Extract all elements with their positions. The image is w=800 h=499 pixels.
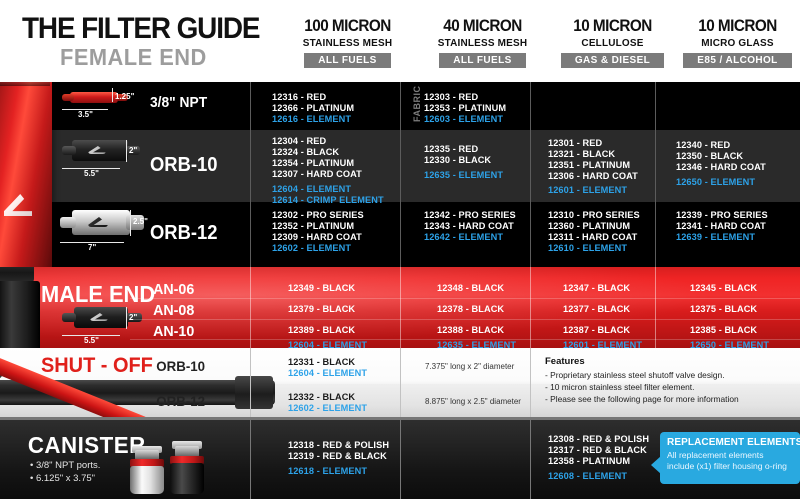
dim-diameter-npt: 1.25" <box>115 92 134 101</box>
size-label-an06: AN-06 <box>153 281 194 298</box>
canister-photo-white <box>130 450 164 494</box>
row-label-orb10: ORB-10 <box>150 154 217 177</box>
callout-title: REPLACEMENT ELEMENTS <box>667 437 793 448</box>
cell-orb12-40micron: 12342 - PRO SERIES 12343 - HARD COAT 126… <box>424 210 516 243</box>
cell-orb10-10micron-cellulose: 12301 - RED 12321 - BLACK 12351 - PLATIN… <box>548 138 638 196</box>
shutoff-orb12-dimensions: 8.875" long x 2.5" diameter <box>425 397 521 406</box>
section-subtitle-female-end: FEMALE END <box>60 44 207 71</box>
cell-orb10-40micron: 12335 - RED 12330 - BLACK 12635 - ELEMEN… <box>424 144 503 181</box>
canister-photo-black <box>170 446 204 494</box>
shutoff-orb12-label: ORB-12 <box>156 393 205 409</box>
replacement-elements-callout: REPLACEMENT ELEMENTS All replacement ele… <box>660 432 800 484</box>
page-title: THE FILTER GUIDE <box>22 12 259 46</box>
canister-photo-red <box>0 82 52 267</box>
shutoff-section: SHUT - OFF ORB-10 ORB-12 12331 - BLACK 1… <box>0 348 800 420</box>
dim-length-an: 5.5" <box>84 336 99 345</box>
cell-orb10-100micron: 12304 - RED 12324 - BLACK 12354 - PLATIN… <box>272 136 384 206</box>
dim-length-orb10: 5.5" <box>84 169 99 178</box>
female-end-table: 3.5" 1.25" 3/8" NPT 5.5" 2" ORB-10 7" 2.… <box>0 82 800 267</box>
fabric-tag: FABRIC <box>412 86 422 123</box>
column-fuel-badge: GAS & DIESEL <box>561 53 664 68</box>
male-end-title: MALE END <box>41 281 155 308</box>
filter-guide-page: THE FILTER GUIDE FEMALE END 100 MICRON S… <box>0 0 800 499</box>
column-header-4: 10 MICRON MICRO GLASS E85 / ALCOHOL <box>655 16 800 68</box>
canister-bullet-2: • 6.125" x 3.75" <box>30 473 95 484</box>
cell-canister-10micron: 12308 - RED & POLISH 12317 - RED & BLACK… <box>548 434 649 482</box>
brand-logo-icon <box>4 194 32 216</box>
features-title: Features <box>545 356 585 367</box>
callout-body: All replacement elements include (x1) fi… <box>667 450 793 472</box>
cell-npt-100micron: 12316 - RED 12366 - PLATINUM 12616 - ELE… <box>272 92 354 125</box>
cell-canister-100micron: 12318 - RED & POLISH 12319 - RED & BLACK… <box>288 440 389 477</box>
page-header: THE FILTER GUIDE FEMALE END 100 MICRON S… <box>0 0 800 82</box>
size-label-an10: AN-10 <box>153 323 194 340</box>
cell-orb12-10micron-cellulose: 12310 - PRO SERIES 12360 - PLATINUM 1231… <box>548 210 640 254</box>
canister-bullet-1: • 3/8" NPT ports. <box>30 460 100 471</box>
dim-length-orb12: 7" <box>88 243 96 252</box>
cell-orb12-100micron: 12302 - PRO SERIES 12352 - PLATINUM 1230… <box>272 210 364 254</box>
cell-orb12-10micron-microglass: 12339 - PRO SERIES 12341 - HARD COAT 126… <box>676 210 768 243</box>
row-label-orb12: ORB-12 <box>150 222 217 245</box>
cell-npt-40micron: 12303 - RED 12353 - PLATINUM 12603 - ELE… <box>424 92 506 125</box>
feature-item-1: - Proprietary stainless steel shutoff va… <box>545 370 725 380</box>
row-label-npt: 3/8" NPT <box>150 94 207 111</box>
cell-shutoff-orb10: 12331 - BLACK 12604 - ELEMENT <box>288 357 367 379</box>
dim-length-npt: 3.5" <box>78 110 93 119</box>
column-fuel-badge: E85 / ALCOHOL <box>683 53 791 68</box>
dim-diameter-orb10: 2" <box>129 146 137 155</box>
dim-diameter-an: 2" <box>129 313 137 322</box>
canister-title: CANISTER <box>28 432 146 459</box>
column-micron: 10 MICRON <box>663 16 800 36</box>
column-fuel-badge: ALL FUELS <box>439 53 525 68</box>
cell-shutoff-orb12: 12332 - BLACK 12602 - ELEMENT <box>288 392 367 414</box>
shutoff-orb10-dimensions: 7.375" long x 2" diameter <box>425 362 514 371</box>
an-fitting-photo <box>0 267 44 348</box>
size-label-an08: AN-08 <box>153 302 194 319</box>
column-media: MICRO GLASS <box>659 37 800 49</box>
shutoff-orb10-label: ORB-10 <box>156 358 205 374</box>
feature-item-2: - 10 micron stainless steel filter eleme… <box>545 382 694 392</box>
column-fuel-badge: ALL FUELS <box>304 53 390 68</box>
feature-item-3: - Please see the following page for more… <box>545 394 739 404</box>
male-end-section: MALE END 5.5" 2" AN-06 AN-08 AN-10 12349… <box>0 267 800 348</box>
dim-diameter-orb12: 2.5" <box>133 217 148 226</box>
cell-orb10-10micron-microglass: 12340 - RED 12350 - BLACK 12346 - HARD C… <box>676 140 766 188</box>
shutoff-title: SHUT - OFF <box>41 354 153 378</box>
